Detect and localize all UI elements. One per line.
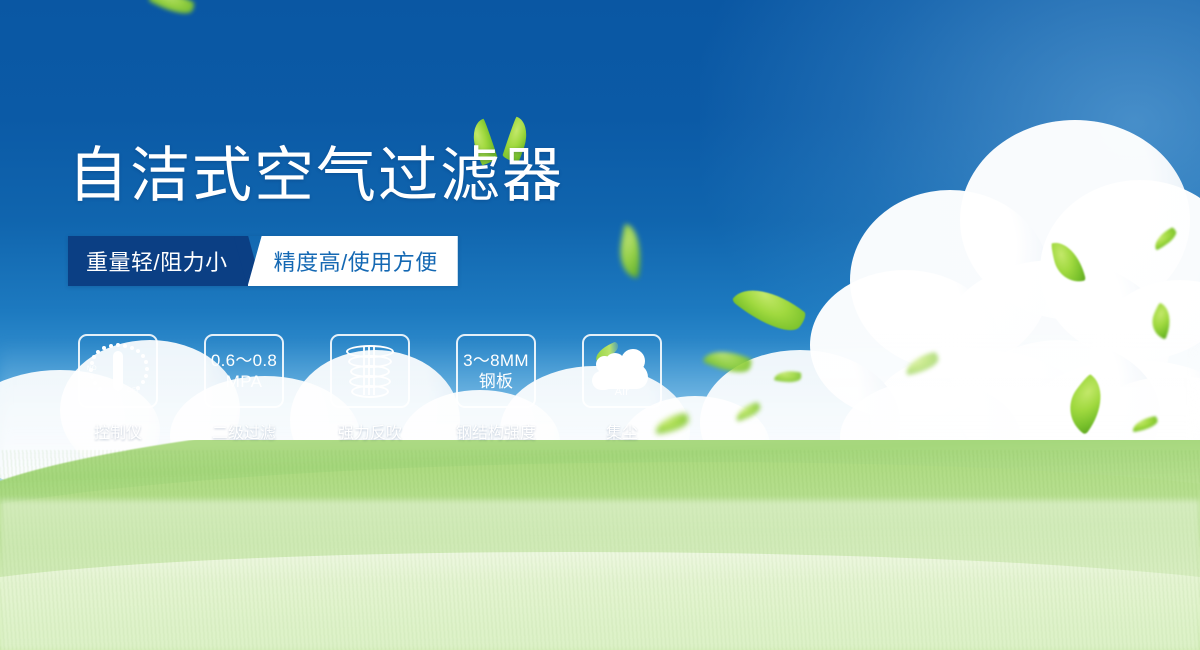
feature-icon-box (330, 334, 410, 408)
feature-icon-box: Air (582, 334, 662, 408)
feature-list: NO OFF 控制仪 0.6～0.8 MPA 二级过滤 (68, 334, 672, 443)
steel-thickness-text: 3～8MM (463, 350, 529, 371)
page-title: 自洁式空气过滤器 (68, 143, 564, 209)
gauge-needle (113, 351, 123, 391)
feature-item[interactable]: 3～8MM 钢板 钢结构强度 (446, 334, 546, 443)
pressure-range-text: 0.6～0.8 (211, 350, 277, 371)
feature-icon-box: 3～8MM 钢板 (456, 334, 536, 408)
feature-label: 钢结构强度 (456, 419, 536, 443)
gauge-icon: NO OFF (87, 342, 149, 400)
feature-label: 强力反吹 (338, 419, 402, 443)
feature-item[interactable]: 强力反吹 (320, 334, 420, 443)
air-label: Air (592, 386, 652, 398)
blowback-rings-icon (345, 343, 395, 399)
feature-item[interactable]: Air 集尘 (572, 334, 672, 443)
product-banner: 自洁式空气过滤器 重量轻/阻力小 精度高/使用方便 (0, 0, 1200, 650)
feature-item[interactable]: NO OFF 控制仪 (68, 334, 168, 443)
feature-label: 二级过滤 (212, 419, 276, 443)
feature-label: 控制仪 (94, 419, 142, 443)
feature-item[interactable]: 0.6～0.8 MPA 二级过滤 (194, 334, 294, 443)
feature-icon-box: 0.6～0.8 MPA (204, 334, 284, 408)
gauge-label-off: OFF (127, 388, 141, 394)
tagline-left: 重量轻/阻力小 (68, 236, 248, 286)
steel-plate-text: 钢板 (479, 371, 514, 392)
gauge-label-no: NO (87, 366, 97, 372)
air-cloud-icon: Air (592, 347, 652, 395)
pressure-unit-text: MPA (226, 371, 262, 392)
tagline-right: 精度高/使用方便 (248, 236, 458, 286)
grass-field (0, 440, 1200, 650)
feature-icon-box: NO OFF (78, 334, 158, 408)
grass-sheen (0, 500, 1200, 650)
feature-label: 集尘 (606, 419, 638, 443)
tagline: 重量轻/阻力小 精度高/使用方便 (68, 236, 458, 286)
